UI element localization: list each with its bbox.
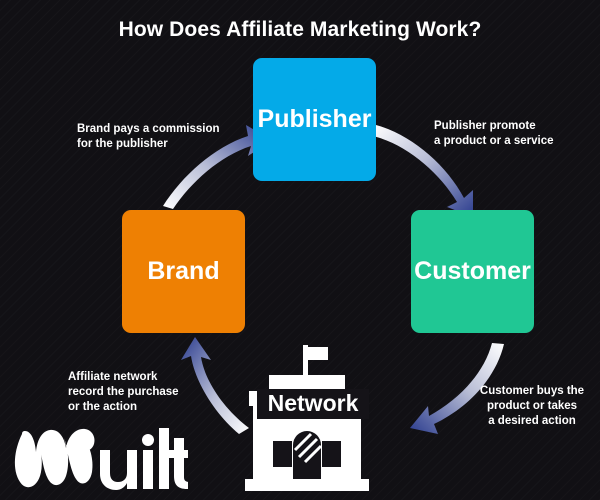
infographic-canvas: How Does Affiliate Marketing Work? [0,0,600,500]
page-title: How Does Affiliate Marketing Work? [0,18,600,42]
caption-brand-to-publisher: Brand pays a commission for the publishe… [77,122,227,152]
node-brand[interactable]: Brand [122,210,245,333]
node-brand-label: Brand [147,257,219,286]
node-network-label: Network [257,389,369,419]
caption-customer-to-network: Customer buys the product or takes a des… [466,384,598,429]
caption-network-to-brand: Affiliate network record the purchase or… [68,370,218,415]
caption-publisher-to-customer: Publisher promote a product or a service [434,119,594,149]
bank-building-icon [237,345,377,493]
node-customer-label: Customer [414,257,531,286]
node-publisher[interactable]: Publisher [253,58,376,181]
node-publisher-label: Publisher [258,105,372,134]
wuilt-logo[interactable] [8,424,188,494]
wuilt-logo-mark [8,424,188,494]
node-network[interactable]: Network [237,345,377,493]
node-customer[interactable]: Customer [411,210,534,333]
